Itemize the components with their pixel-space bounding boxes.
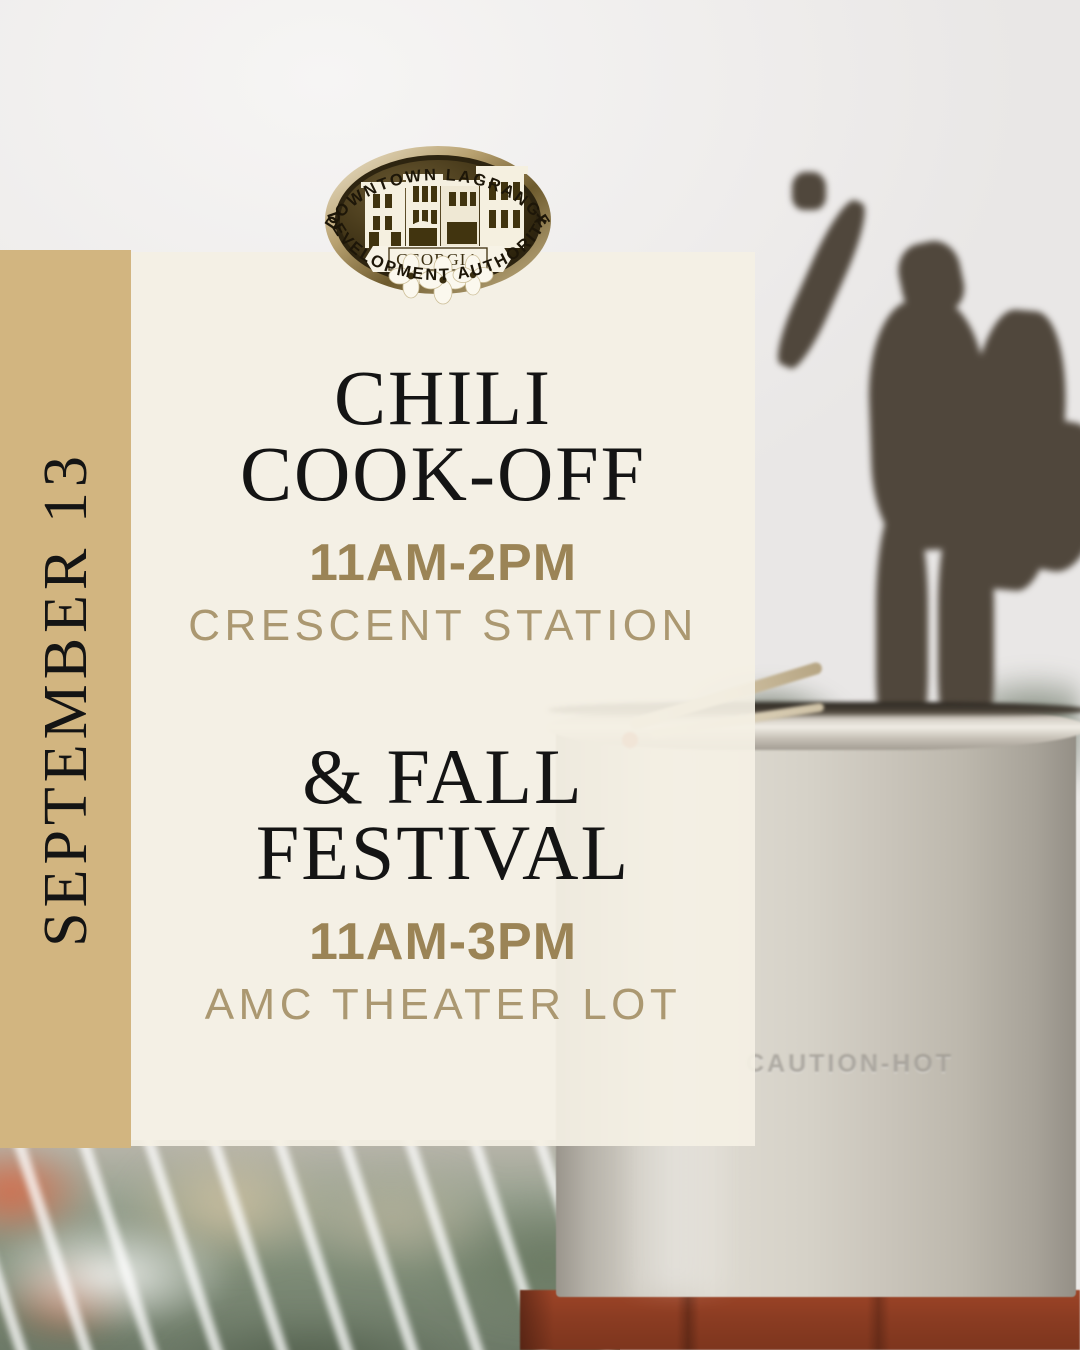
event-2-time: 11AM-3PM bbox=[309, 912, 577, 972]
content-stack: CHILI COOK-OFF 11AM-2PM CRESCENT STATION… bbox=[131, 252, 755, 1146]
event-1-location: CRESCENT STATION bbox=[188, 601, 698, 651]
event-2-title-line2: FESTIVAL bbox=[256, 815, 630, 891]
pot-caution-text: CAUTION-HOT bbox=[735, 1050, 965, 1079]
event-2-title-line1: & FALL bbox=[302, 733, 583, 820]
event-1-title: CHILI COOK-OFF bbox=[240, 360, 646, 513]
event-2-location: AMC THEATER LOT bbox=[205, 980, 682, 1030]
downtown-lagrange-development-authority-logo: GEORGIA bbox=[303, 128, 573, 308]
event-1-title-line1: CHILI bbox=[334, 354, 552, 441]
event-1-title-line2: COOK-OFF bbox=[240, 436, 646, 512]
date-banner-label: SEPTEMBER 13 bbox=[35, 451, 97, 947]
event-poster: CAUTION-HOT SEPTEMBER 13 CHILI COOK-OFF … bbox=[0, 0, 1080, 1350]
logo-svg: GEORGIA bbox=[303, 128, 573, 308]
event-1-time: 11AM-2PM bbox=[309, 533, 577, 593]
date-banner: SEPTEMBER 13 bbox=[0, 250, 131, 1148]
event-2-title: & FALL FESTIVAL bbox=[256, 739, 630, 892]
